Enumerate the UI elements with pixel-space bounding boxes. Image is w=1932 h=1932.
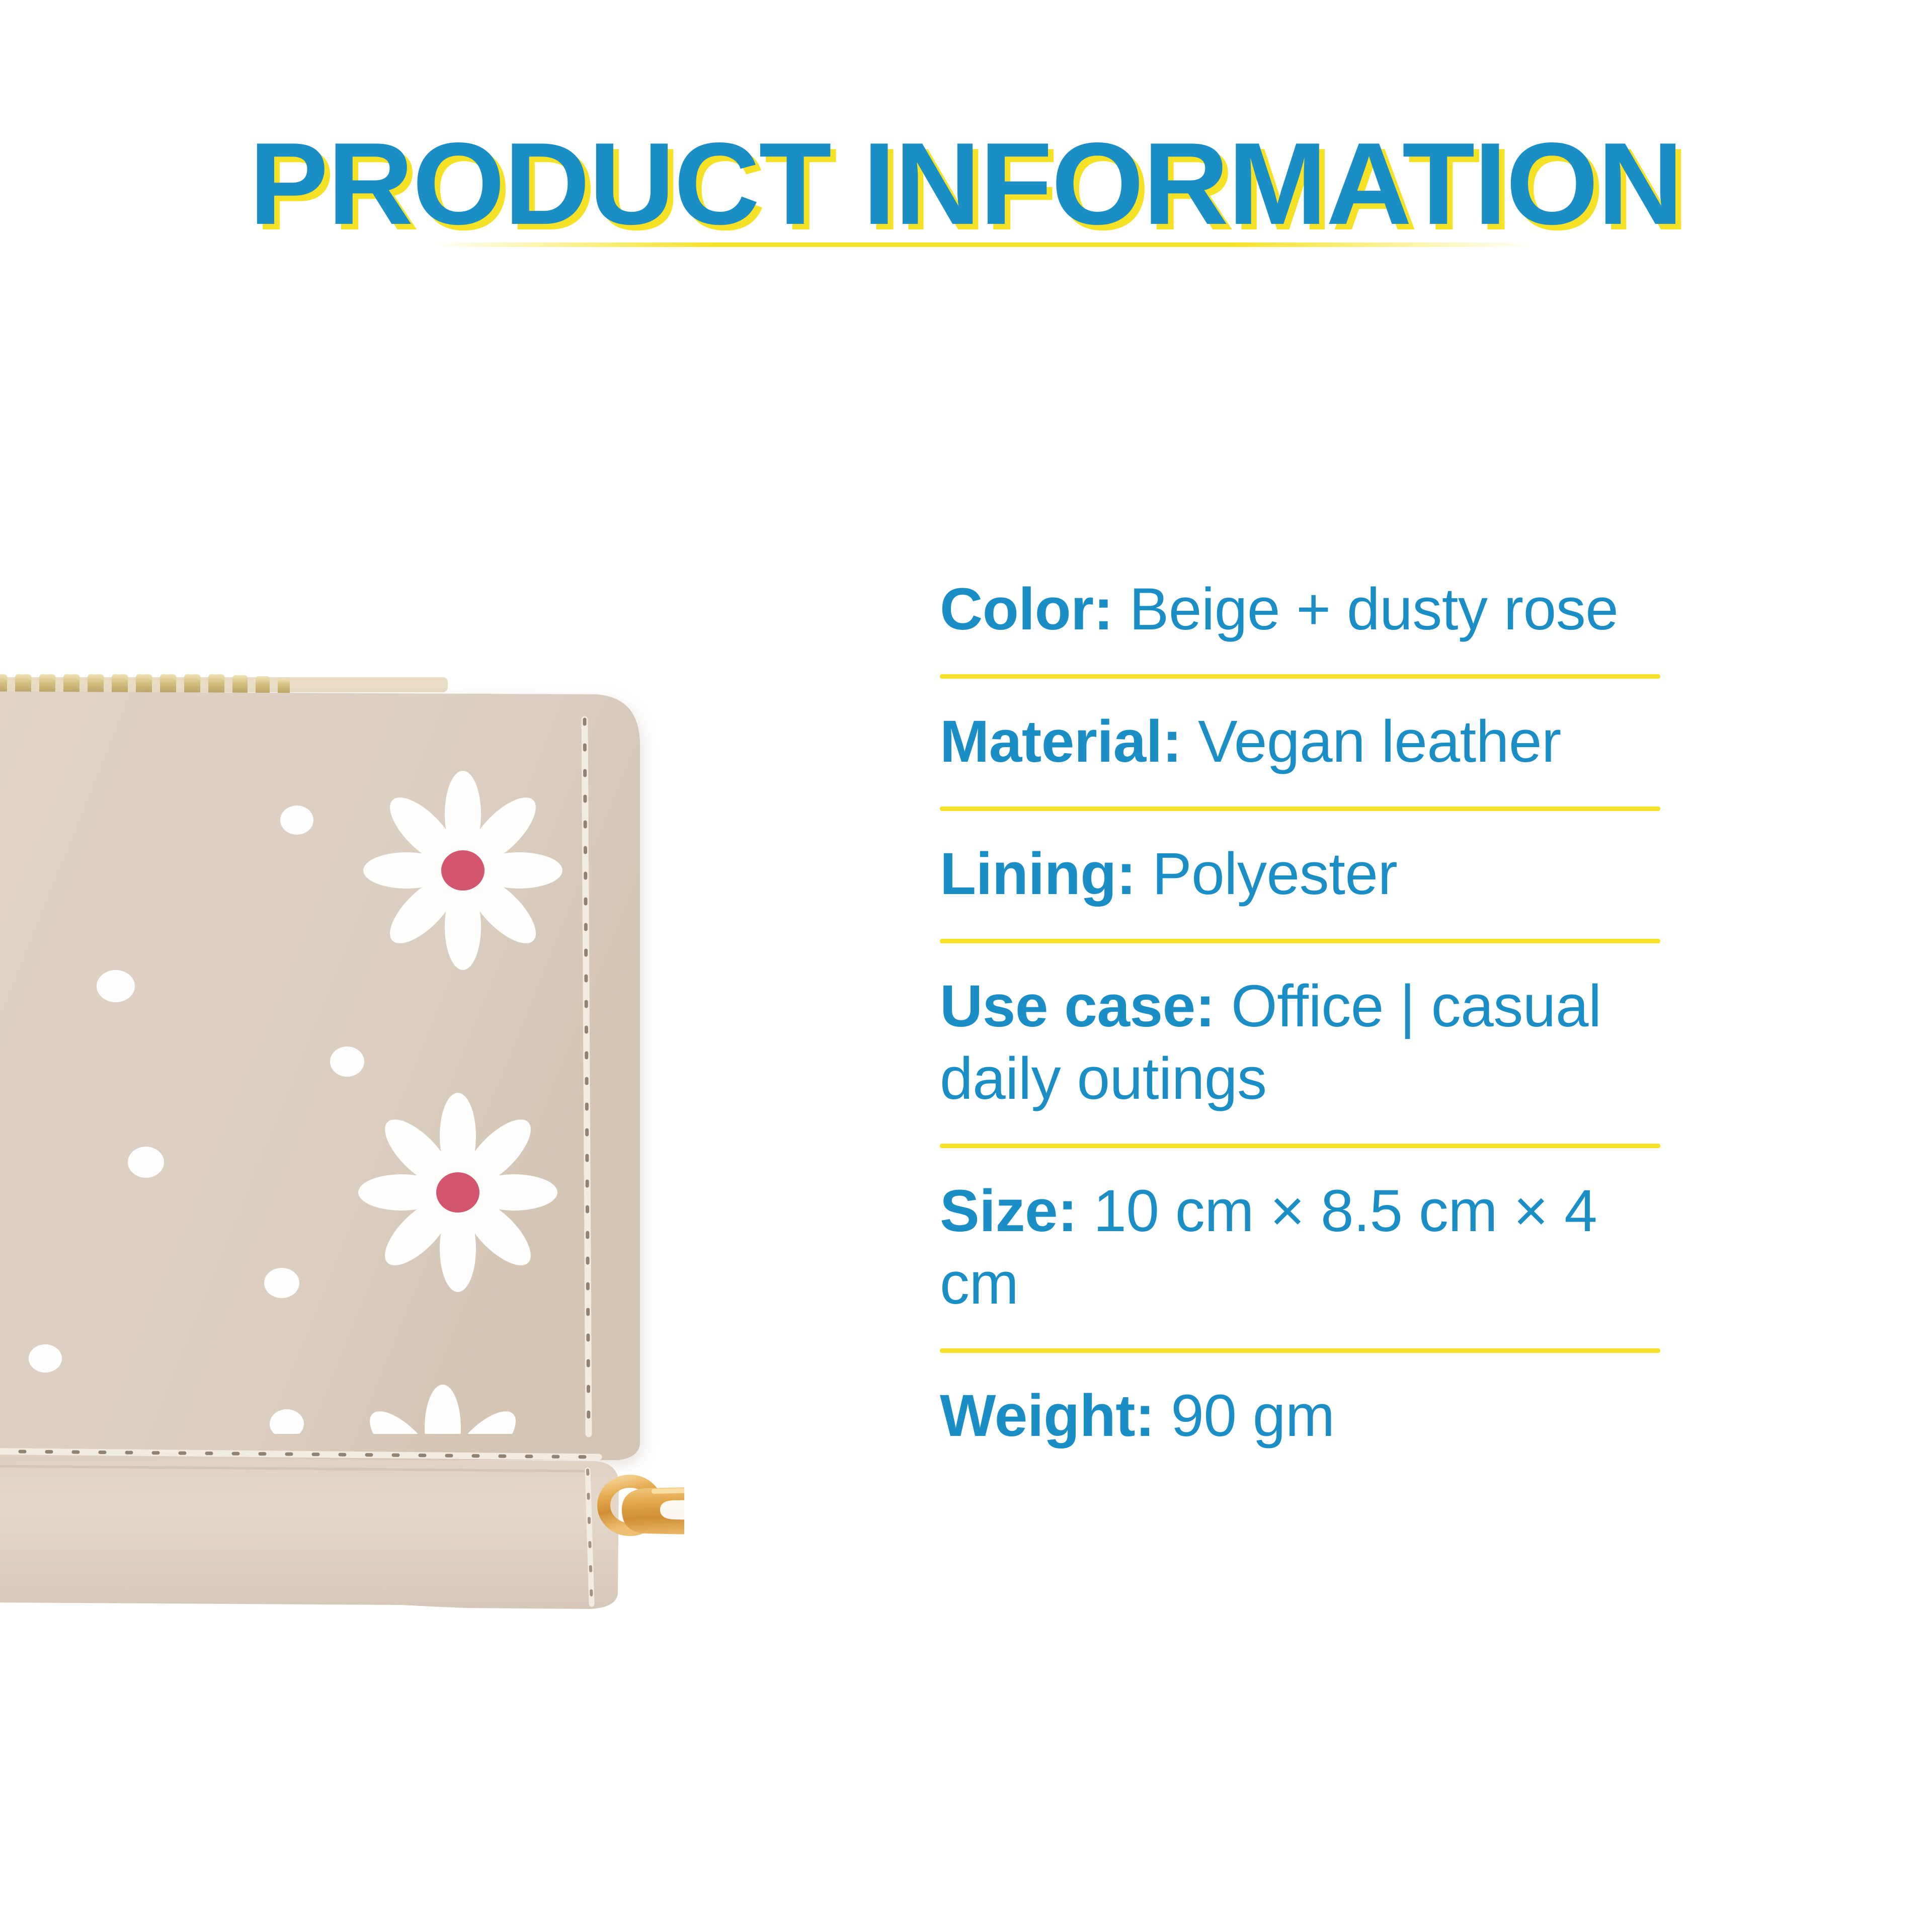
title-underline-accent	[433, 243, 1535, 247]
spec-value-lining: Polyester	[1152, 841, 1397, 907]
page-header: PRODUCT INFORMATION	[0, 126, 1932, 243]
spec-value-material: Vegan leather	[1198, 708, 1561, 775]
spec-label-weight: Weight:	[940, 1383, 1171, 1449]
spec-line-use-case: Use case: Office | casual daily outings	[940, 971, 1660, 1115]
spec-line-size: Size: 10 cm × 8.5 cm × 4 cm	[940, 1175, 1660, 1320]
spec-value-color: Beige + dusty rose	[1130, 576, 1619, 642]
spec-label-use-case: Use case:	[940, 973, 1231, 1039]
wallet-body	[0, 690, 640, 1460]
page-title: PRODUCT INFORMATION	[250, 126, 1683, 243]
wallet-gusset	[0, 1455, 619, 1609]
spec-divider-2	[940, 807, 1660, 811]
spec-label-lining: Lining:	[940, 841, 1152, 907]
spec-divider-5	[940, 1348, 1660, 1353]
edge-stitching-right	[585, 719, 589, 1434]
spec-row-lining: Lining: Polyester	[940, 838, 1660, 911]
product-photo-wallet	[0, 659, 684, 1615]
spec-line-material: Material: Vegan leather	[940, 706, 1660, 778]
product-spec-list: Color: Beige + dusty rose Material: Vega…	[940, 574, 1660, 1453]
spec-row-color: Color: Beige + dusty rose	[940, 574, 1660, 646]
spec-label-color: Color:	[940, 576, 1130, 642]
spec-line-weight: Weight: 90 gm	[940, 1380, 1660, 1453]
spec-line-color: Color: Beige + dusty rose	[940, 574, 1660, 646]
spec-divider-3	[940, 939, 1660, 943]
spec-row-use-case: Use case: Office | casual daily outings	[940, 971, 1660, 1115]
spec-row-weight: Weight: 90 gm	[940, 1380, 1660, 1453]
spec-label-material: Material:	[940, 708, 1198, 775]
spec-row-material: Material: Vegan leather	[940, 706, 1660, 778]
spec-row-size: Size: 10 cm × 8.5 cm × 4 cm	[940, 1175, 1660, 1320]
spec-label-size: Size:	[940, 1178, 1093, 1244]
spec-divider-1	[940, 674, 1660, 679]
spec-divider-4	[940, 1144, 1660, 1148]
wallet-illustration	[0, 659, 684, 1615]
spec-line-lining: Lining: Polyester	[940, 838, 1660, 911]
spec-value-weight: 90 gm	[1171, 1383, 1334, 1449]
